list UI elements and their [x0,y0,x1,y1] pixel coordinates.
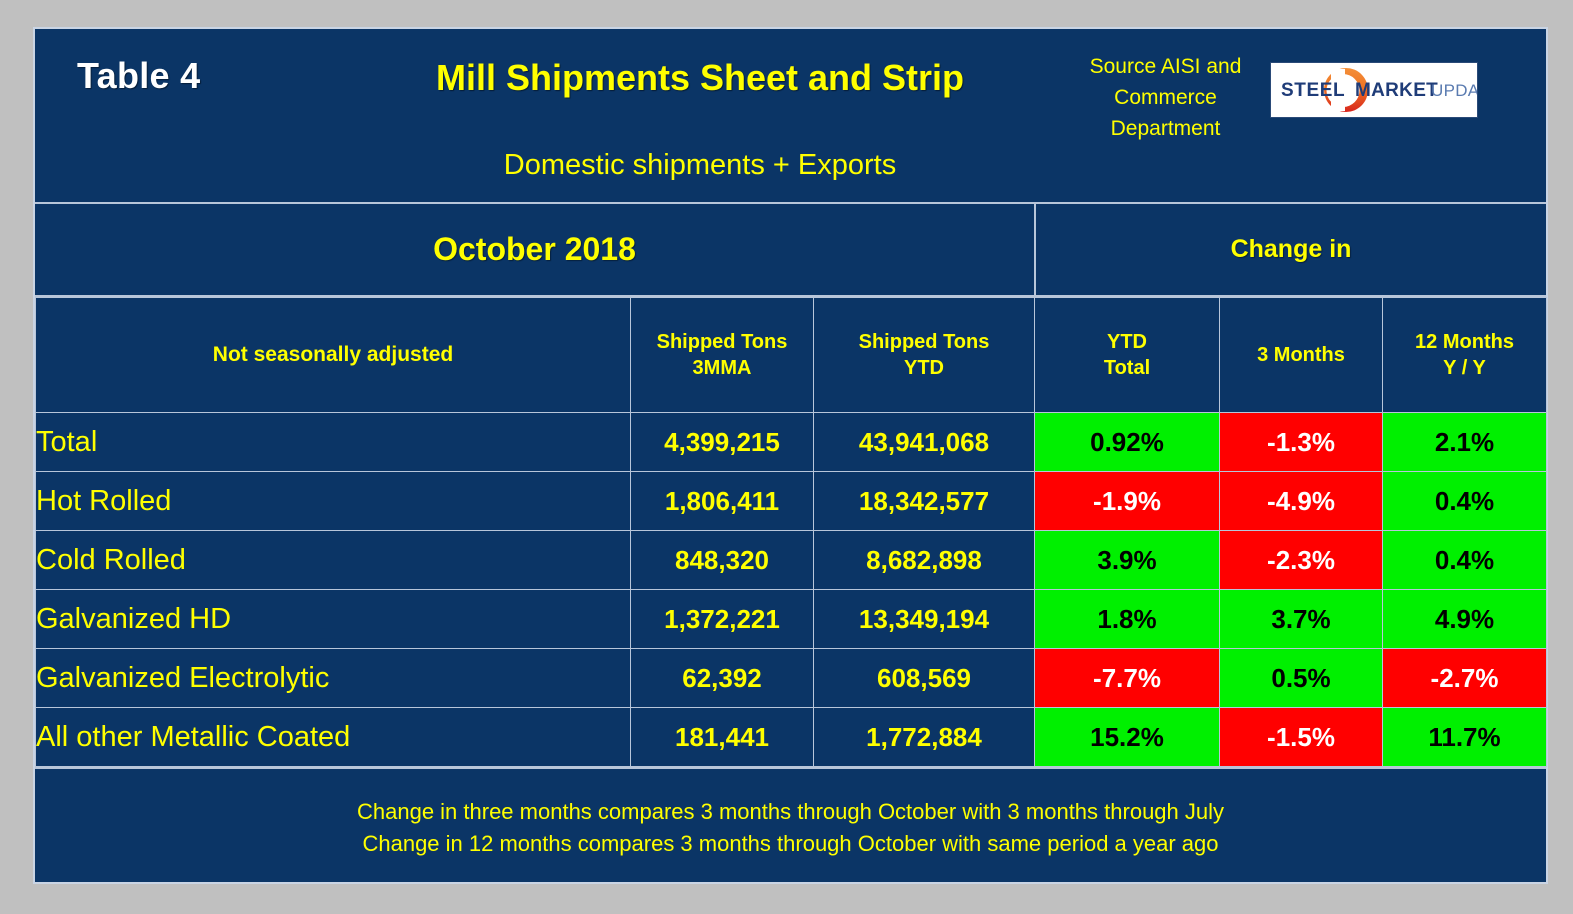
cell-twelve-months: 11.7% [1383,708,1547,767]
cell-ytd-total: -7.7% [1035,649,1220,708]
table-label: Table 4 [77,55,200,97]
cell-twelve-months: 0.4% [1383,531,1547,590]
column-header-line2: Y / Y [1383,355,1546,381]
cell-twelve-months: 2.1% [1383,413,1547,472]
column-header-line1: YTD [1035,329,1219,355]
source-note: Source AISI and Commerce Department [1063,51,1268,144]
cell-ytd-total: 1.8% [1035,590,1220,649]
cell-shipped-3mma: 4,399,215 [631,413,814,472]
period-band: October 2018 Change in [35,204,1546,297]
shipments-table: Not seasonally adjusted Shipped Tons 3MM… [35,297,1547,767]
cell-shipped-ytd: 608,569 [814,649,1035,708]
row-label: Total [36,413,631,472]
cell-ytd-total: 15.2% [1035,708,1220,767]
table-row: Cold Rolled848,3208,682,8983.9%-2.3%0.4% [36,531,1547,590]
cell-twelve-months: 0.4% [1383,472,1547,531]
steel-market-update-logo: STEEL MARKET UPDATE [1270,62,1478,118]
column-header-line1: 12 Months [1383,329,1546,355]
logo-text-steel: STEEL [1281,80,1345,102]
table-row: Galvanized HD1,372,22113,349,1941.8%3.7%… [36,590,1547,649]
table-row: Hot Rolled1,806,41118,342,577-1.9%-4.9%0… [36,472,1547,531]
cell-ytd-total: 3.9% [1035,531,1220,590]
table-header-row: Not seasonally adjusted Shipped Tons 3MM… [36,298,1547,413]
change-in-label: Change in [1231,235,1352,264]
row-label: Galvanized HD [36,590,631,649]
cell-twelve-months: -2.7% [1383,649,1547,708]
cell-three-months: -1.5% [1220,708,1383,767]
column-header-line2: Total [1035,355,1219,381]
cell-shipped-ytd: 18,342,577 [814,472,1035,531]
cell-three-months: 0.5% [1220,649,1383,708]
column-header-shipped-3mma: Shipped Tons 3MMA [631,298,814,413]
row-label: Cold Rolled [36,531,631,590]
table-row: All other Metallic Coated181,4411,772,88… [36,708,1547,767]
row-label: Hot Rolled [36,472,631,531]
title-band: Table 4 Mill Shipments Sheet and Strip D… [35,29,1546,204]
column-header-line2: YTD [814,355,1034,381]
page-subtitle: Domestic shipments + Exports [365,149,1035,182]
row-label: Galvanized Electrolytic [36,649,631,708]
column-header-line1: Shipped Tons [631,329,813,355]
column-header-three-months: 3 Months [1220,298,1383,413]
logo-text-market: MARKET [1355,80,1438,102]
cell-ytd-total: 0.92% [1035,413,1220,472]
column-header-shipped-ytd: Shipped Tons YTD [814,298,1035,413]
slide-panel: Table 4 Mill Shipments Sheet and Strip D… [33,27,1548,884]
logo-text-update: UPDATE [1431,81,1478,101]
cell-three-months: -2.3% [1220,531,1383,590]
cell-shipped-3mma: 181,441 [631,708,814,767]
cell-shipped-ytd: 1,772,884 [814,708,1035,767]
row-label: All other Metallic Coated [36,708,631,767]
cell-shipped-ytd: 43,941,068 [814,413,1035,472]
footnote-line-2: Change in 12 months compares 3 months th… [362,828,1218,860]
cell-shipped-3mma: 62,392 [631,649,814,708]
footnote-line-1: Change in three months compares 3 months… [357,796,1224,828]
cell-shipped-3mma: 1,806,411 [631,472,814,531]
cell-shipped-ytd: 8,682,898 [814,531,1035,590]
cell-three-months: -4.9% [1220,472,1383,531]
cell-twelve-months: 4.9% [1383,590,1547,649]
table-row: Galvanized Electrolytic62,392608,569-7.7… [36,649,1547,708]
column-header-line1: Shipped Tons [814,329,1034,355]
footnote-block: Change in three months compares 3 months… [35,767,1546,887]
table-row: Total4,399,21543,941,0680.92%-1.3%2.1% [36,413,1547,472]
cell-three-months: -1.3% [1220,413,1383,472]
period-label: October 2018 [433,231,636,268]
table-body: Total4,399,21543,941,0680.92%-1.3%2.1%Ho… [36,413,1547,767]
period-cell: October 2018 [35,204,1036,295]
column-header-ytd-total: YTD Total [1035,298,1220,413]
change-in-cell: Change in [1036,204,1546,295]
page-title: Mill Shipments Sheet and Strip [365,57,1035,99]
cell-shipped-3mma: 1,372,221 [631,590,814,649]
column-header-line2: 3MMA [631,355,813,381]
cell-shipped-3mma: 848,320 [631,531,814,590]
cell-shipped-ytd: 13,349,194 [814,590,1035,649]
column-header-twelve-months: 12 Months Y / Y [1383,298,1547,413]
cell-ytd-total: -1.9% [1035,472,1220,531]
column-header-name: Not seasonally adjusted [36,298,631,413]
cell-three-months: 3.7% [1220,590,1383,649]
